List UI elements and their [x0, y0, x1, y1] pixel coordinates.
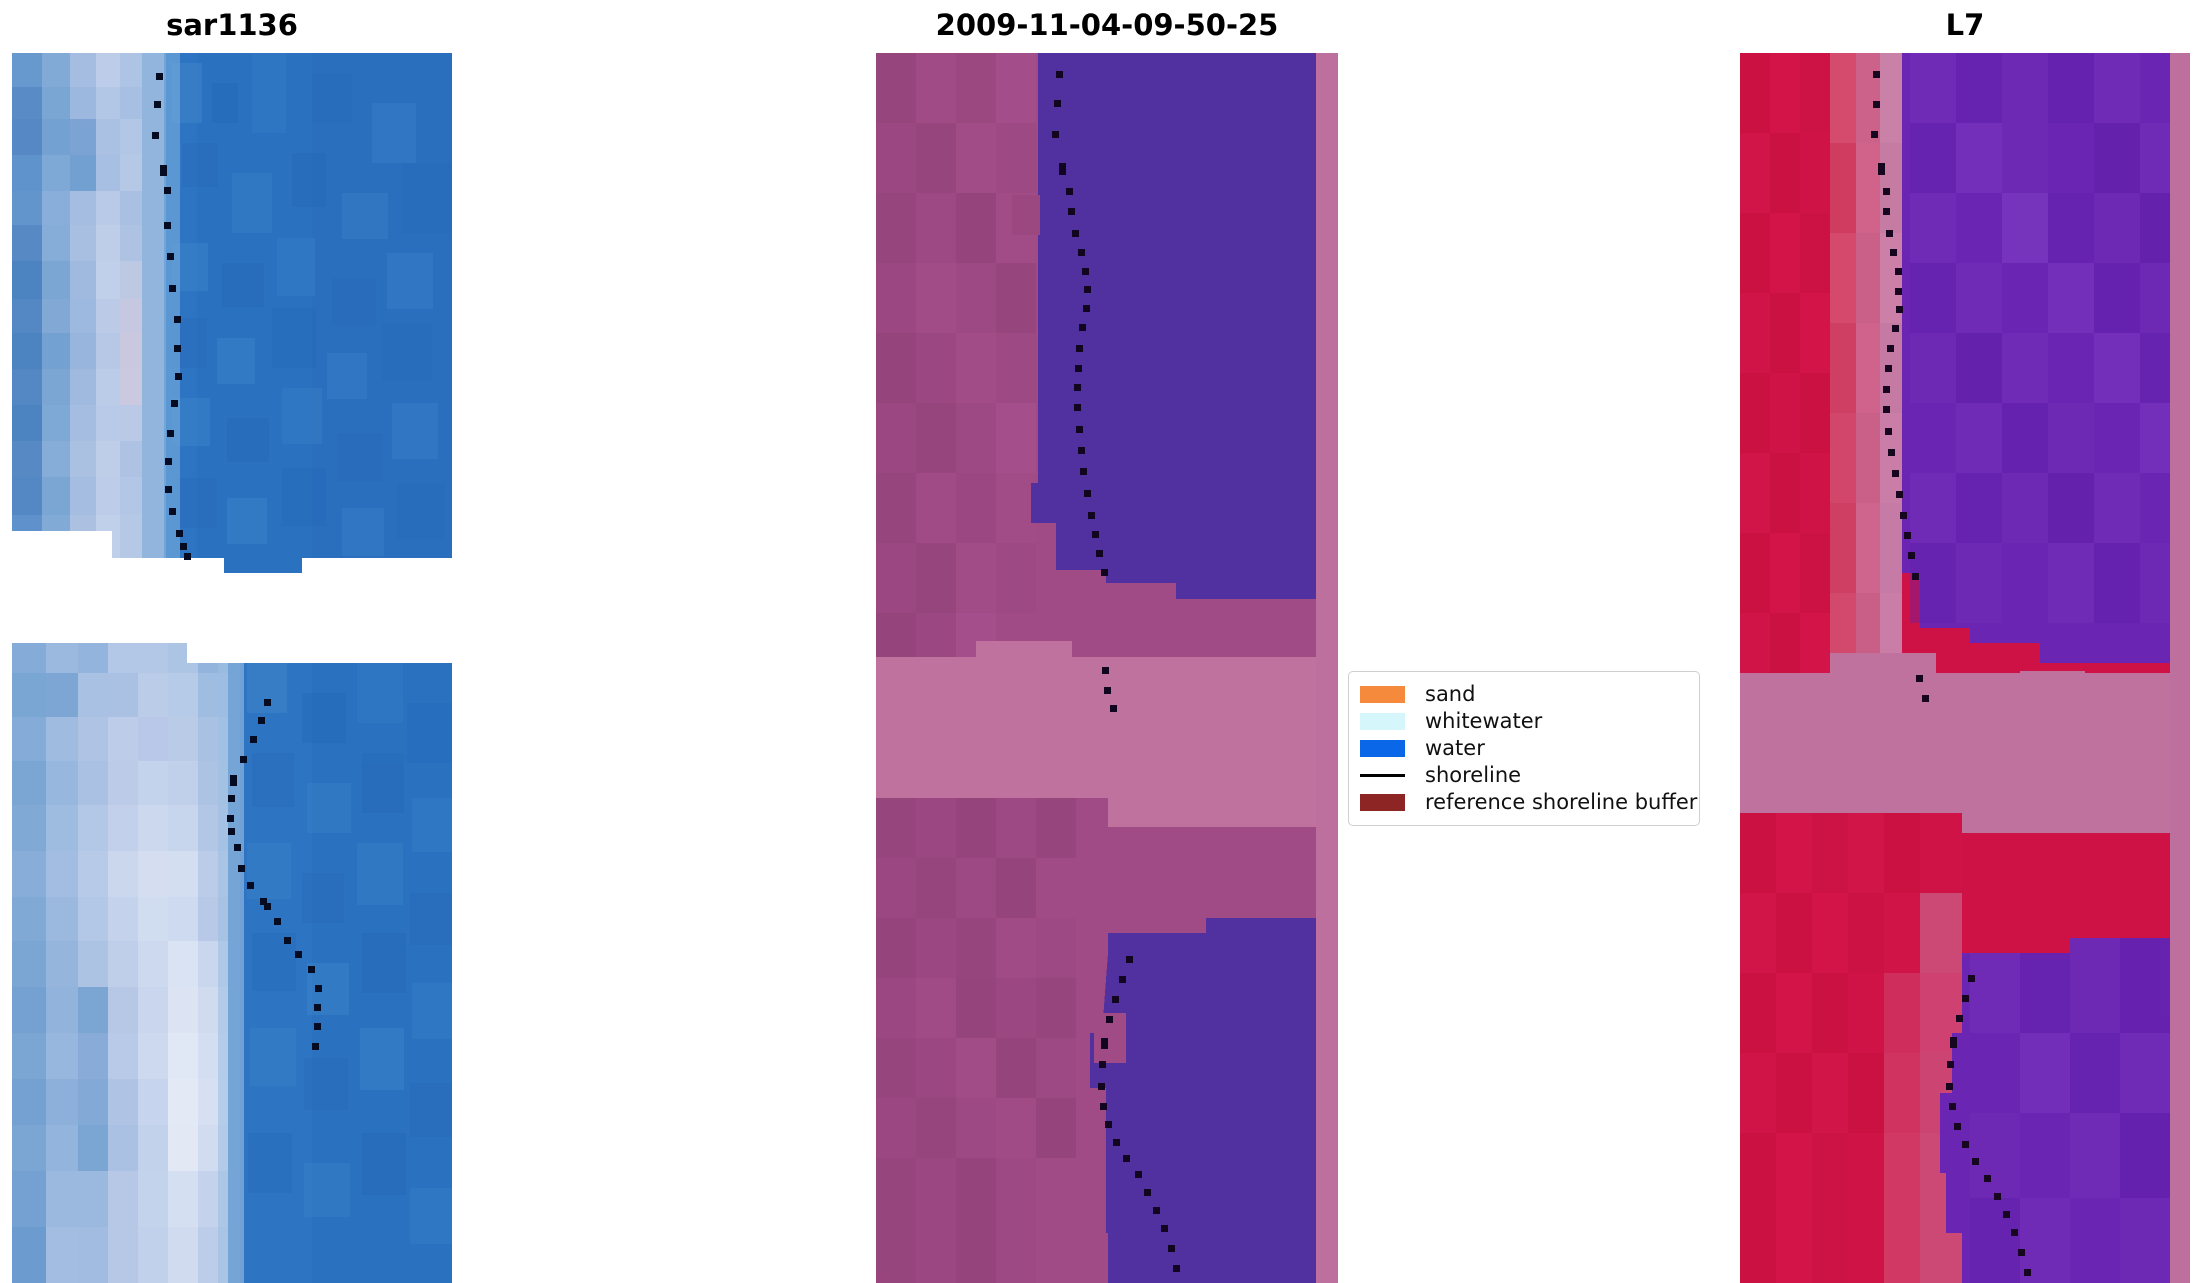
whitewater-swatch — [1360, 713, 1405, 730]
legend-item-reference-buffer[interactable]: reference shoreline buffer — [1360, 789, 1688, 816]
reference-buffer-swatch — [1360, 794, 1405, 811]
legend-label-sand: sand — [1425, 684, 1475, 705]
panel-classification[interactable] — [876, 53, 1338, 1283]
legend-label-shoreline: shoreline — [1425, 765, 1521, 786]
legend-item-sand[interactable]: sand — [1360, 681, 1688, 708]
panel-title-l7: L7 — [1740, 8, 2190, 42]
shoreline-line-swatch — [1360, 774, 1405, 777]
legend-item-water[interactable]: water — [1360, 735, 1688, 762]
panel-title-sar1136: sar1136 — [12, 8, 452, 42]
water-swatch — [1360, 740, 1405, 757]
legend-box[interactable]: sand whitewater water shoreline referenc… — [1348, 671, 1700, 826]
legend-item-shoreline[interactable]: shoreline — [1360, 762, 1688, 789]
sar1136-image — [12, 53, 452, 1283]
panel-title-date: 2009-11-04-09-50-25 — [876, 8, 1338, 42]
figure-canvas: sar1136 2009-11-04-09-50-25 L7 — [0, 0, 2200, 1283]
sand-swatch — [1360, 686, 1405, 703]
legend-item-whitewater[interactable]: whitewater — [1360, 708, 1688, 735]
legend-label-reference-buffer: reference shoreline buffer — [1425, 792, 1697, 813]
l7-image — [1740, 53, 2190, 1283]
panel-sar1136[interactable] — [12, 53, 452, 1283]
legend-label-water: water — [1425, 738, 1485, 759]
classification-image — [876, 53, 1338, 1283]
legend-label-whitewater: whitewater — [1425, 711, 1542, 732]
panel-l7[interactable] — [1740, 53, 2190, 1283]
